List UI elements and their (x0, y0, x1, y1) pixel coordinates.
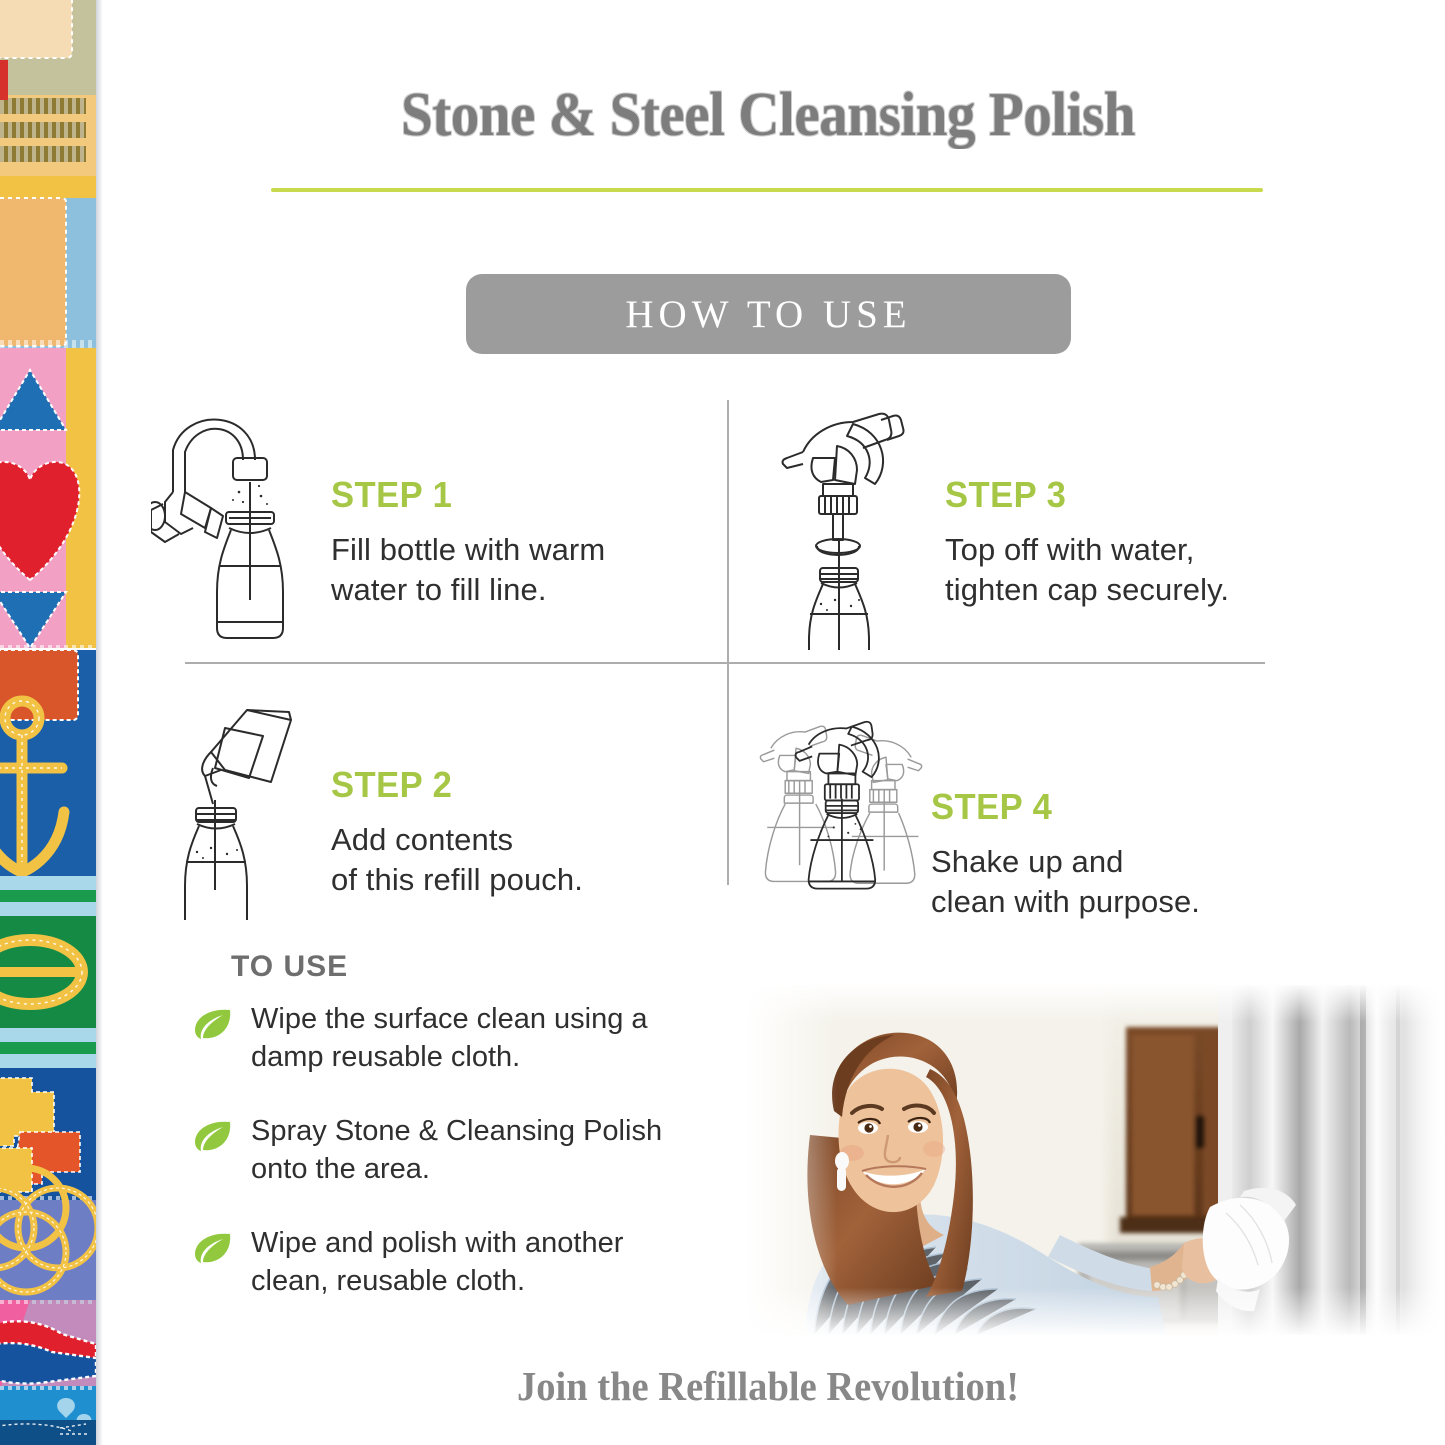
refill-pouch-pouring-icon (151, 690, 331, 920)
how-to-use-label: HOW TO USE (625, 292, 911, 337)
step-3-number: STEP 3 (945, 474, 1218, 516)
faucet-filling-bottle-icon (151, 400, 331, 650)
how-to-use-banner: HOW TO USE (466, 274, 1071, 354)
title-underline (271, 188, 1263, 192)
step-2: STEP 2 Add contents of this refill pouch… (151, 690, 583, 920)
page-title: Stone & Steel Cleansing Polish (156, 78, 1380, 152)
quilt-pattern-svg (0, 0, 96, 1445)
list-item-text: Wipe and polish with another clean, reus… (251, 1224, 623, 1300)
quilt-border-edge-shadow (96, 0, 103, 1445)
to-use-list: Wipe the surface clean using a damp reus… (193, 1000, 813, 1336)
step-4: STEP 4 Shake up and clean with purpose. (751, 712, 1200, 922)
to-use-heading: TO USE (231, 950, 348, 984)
step-3: STEP 3 Top off with water, tighten cap s… (765, 400, 1229, 650)
list-item: Wipe and polish with another clean, reus… (193, 1224, 813, 1300)
list-item-text: Wipe the surface clean using a damp reus… (251, 1000, 648, 1076)
infographic-body: Stone & Steel Cleansing Polish HOW TO US… (103, 0, 1445, 1445)
leaf-icon (193, 1224, 251, 1269)
shaking-spray-bottle-icon (751, 712, 931, 897)
step-2-number: STEP 2 (331, 764, 573, 806)
step-1-description: Fill bottle with warm water to fill line… (331, 530, 605, 610)
list-item: Wipe the surface clean using a damp reus… (193, 1000, 813, 1076)
step-4-description: Shake up and clean with purpose. (931, 842, 1200, 922)
step-1: STEP 1 Fill bottle with warm water to fi… (151, 400, 605, 650)
leaf-icon (193, 1112, 251, 1157)
step-4-text: STEP 4 Shake up and clean with purpose. (931, 712, 1200, 922)
lifestyle-photo-woman-cleaning (748, 985, 1445, 1335)
list-item-text: Spray Stone & Cleansing Polish onto the … (251, 1112, 662, 1188)
steps-vertical-divider (727, 400, 729, 885)
decorative-quilt-border (0, 0, 96, 1445)
step-1-text: STEP 1 Fill bottle with warm water to fi… (331, 400, 605, 610)
step-2-description: Add contents of this refill pouch. (331, 820, 583, 900)
leaf-icon (193, 1000, 251, 1045)
footer-tagline: Join the Refillable Revolution! (143, 1362, 1393, 1410)
step-1-number: STEP 1 (331, 474, 594, 516)
spray-trigger-cap-icon (765, 400, 945, 650)
list-item: Spray Stone & Cleansing Polish onto the … (193, 1112, 813, 1188)
steps-horizontal-divider (185, 662, 1265, 664)
step-4-number: STEP 4 (931, 786, 1189, 828)
step-3-text: STEP 3 Top off with water, tighten cap s… (945, 400, 1229, 610)
step-2-text: STEP 2 Add contents of this refill pouch… (331, 690, 583, 900)
step-3-description: Top off with water, tighten cap securely… (945, 530, 1229, 610)
